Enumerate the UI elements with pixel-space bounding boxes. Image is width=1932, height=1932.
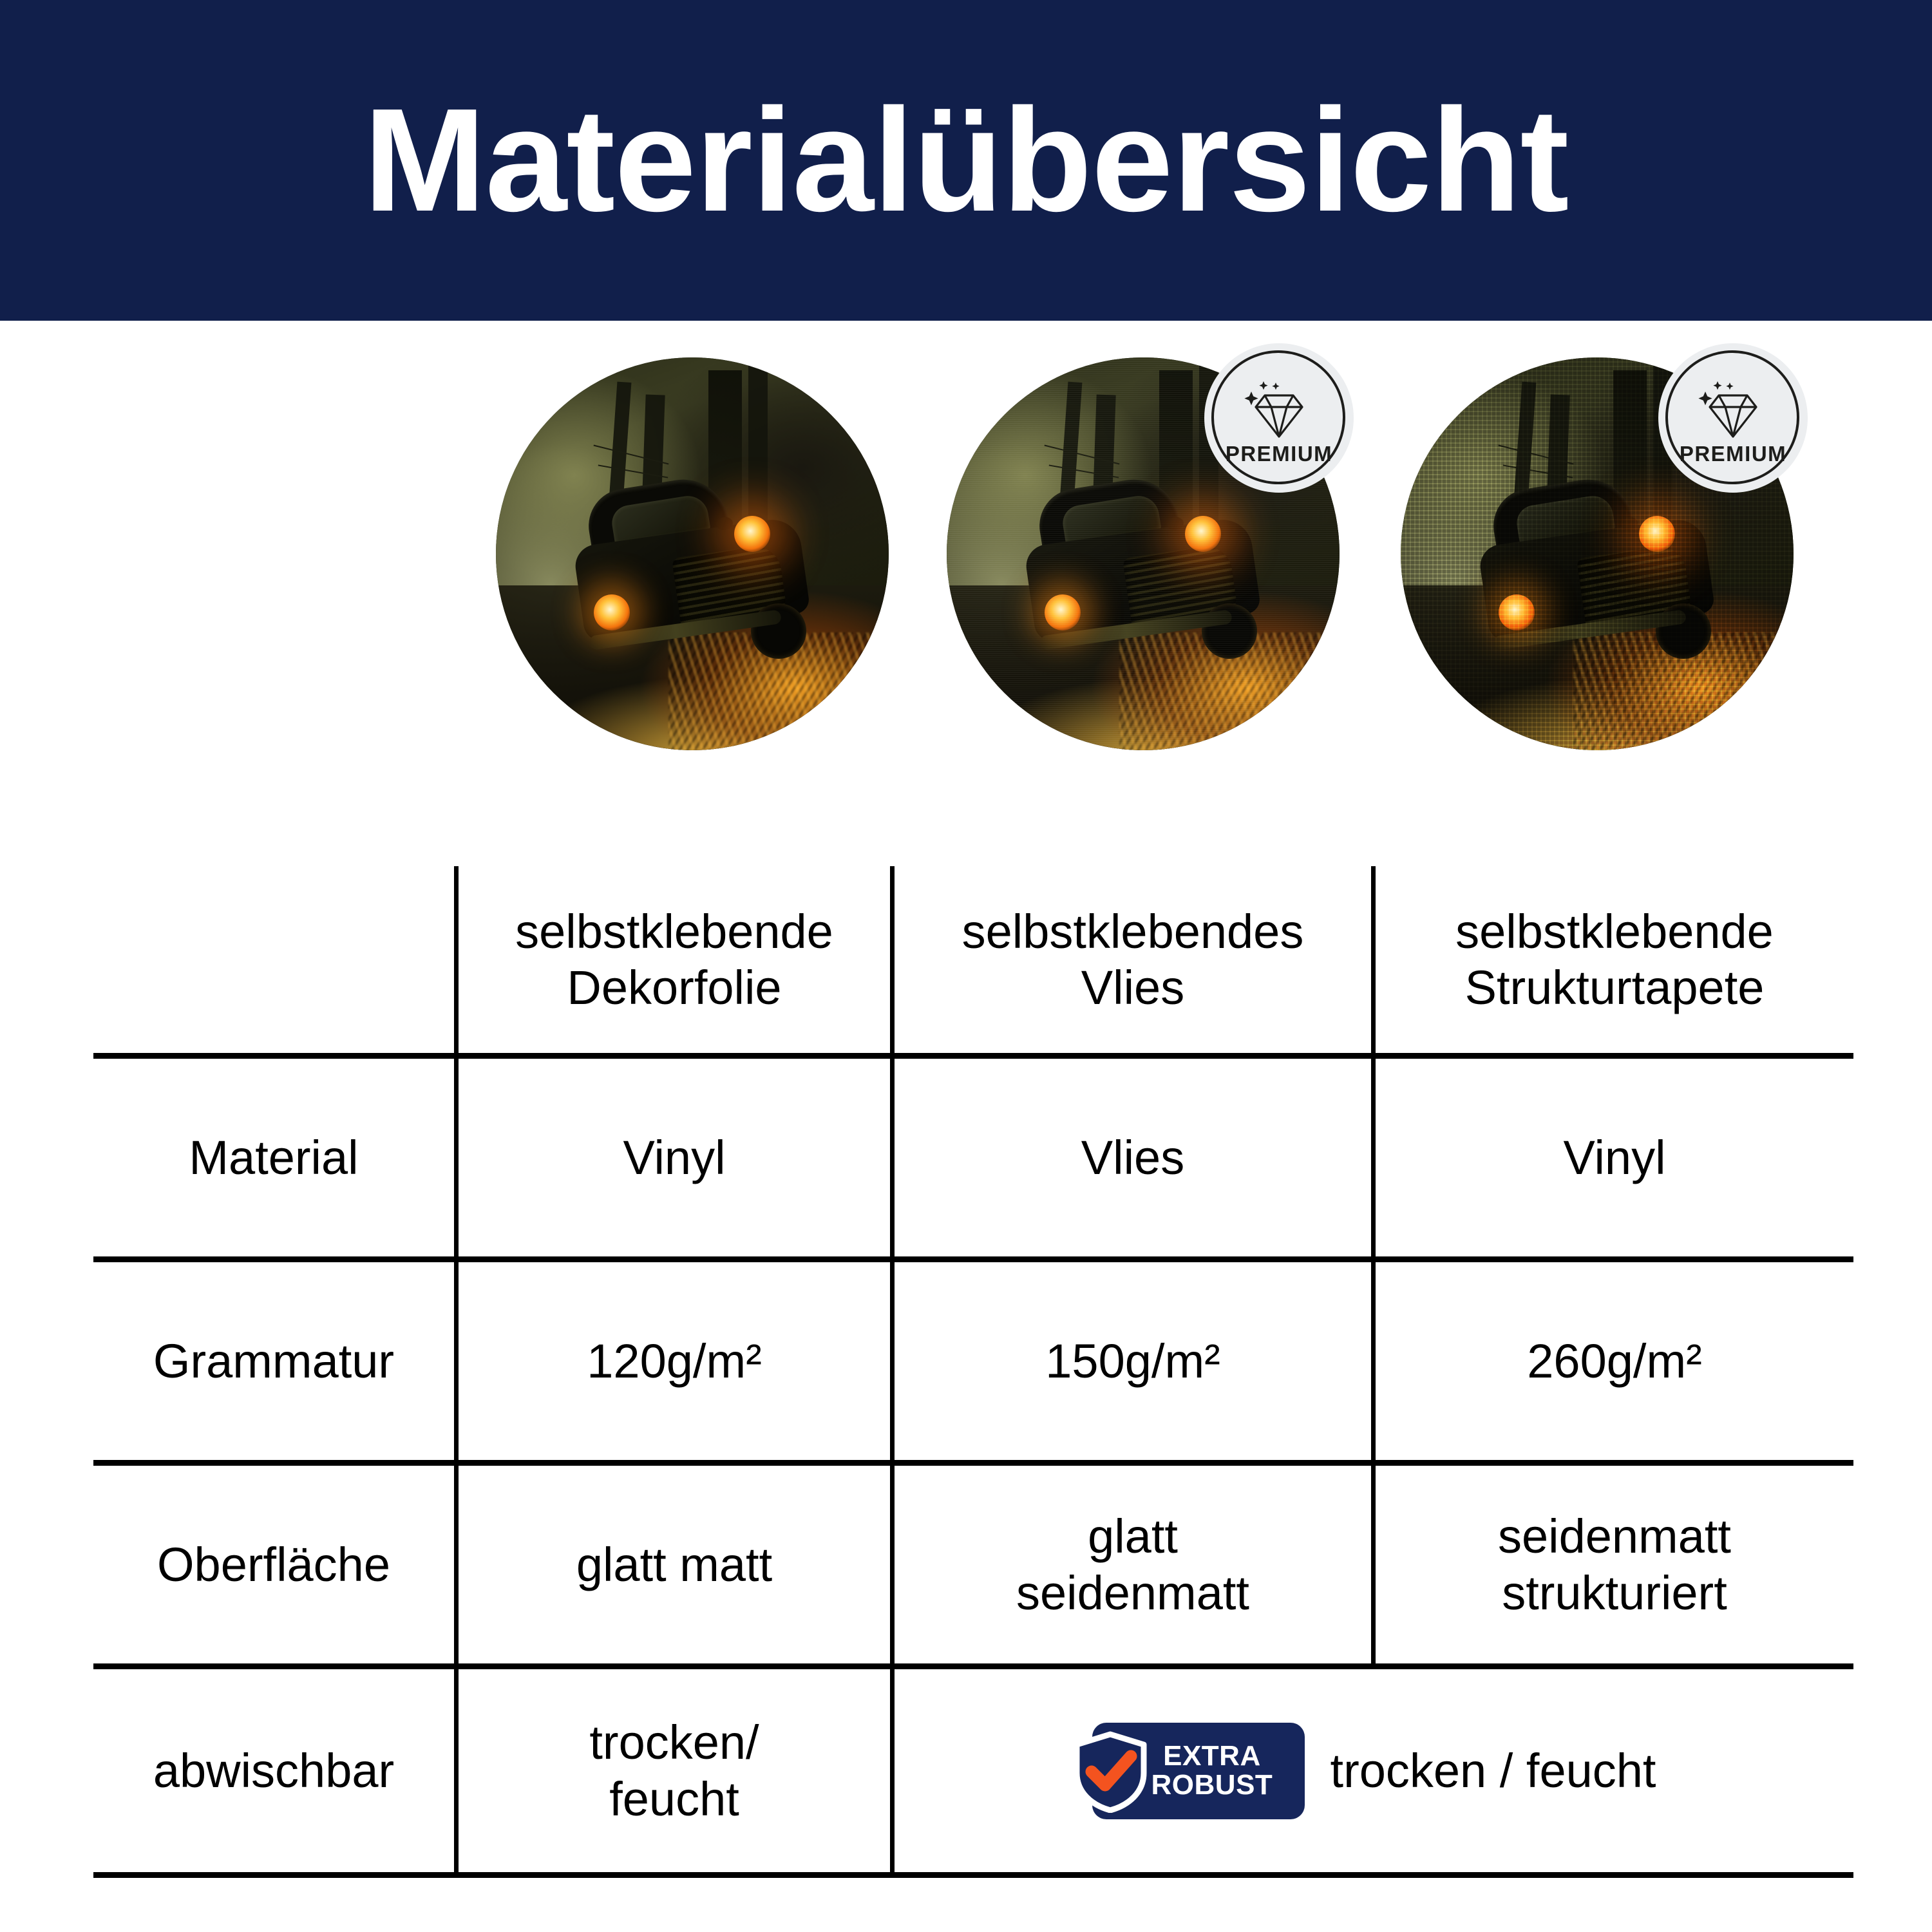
headlight-glow-icon [1045, 594, 1081, 630]
cell-abwischbar-merged: EXTRA ROBUST trocken / feucht [893, 1667, 1854, 1875]
extra-robust-label: EXTRA ROBUST [1151, 1742, 1273, 1800]
row-label-oberflaeche: Oberfläche [93, 1463, 457, 1667]
row-label-abwischbar: abwischbar [93, 1667, 457, 1875]
vintage-truck-icon [578, 484, 810, 670]
cell-abwischbar-dekorfolie: trocken/ feucht [457, 1667, 893, 1875]
diamond-icon [1240, 379, 1318, 440]
table-row-grammatur: Grammatur 120g/m² 150g/m² 260g/m² [93, 1260, 1853, 1463]
cell-grammatur-dekorfolie: 120g/m² [457, 1260, 893, 1463]
header-line-2: Dekorfolie [567, 961, 781, 1014]
headlight-glow-icon [1639, 516, 1675, 552]
preview-circle-vlies: PREMIUM [947, 357, 1340, 750]
premium-badge-label: PREMIUM [1680, 442, 1786, 466]
table-row-abwischbar: abwischbar trocken/ feucht [93, 1667, 1853, 1875]
preview-circle-row: PREMIUM [0, 357, 1932, 757]
cell-material-dekorfolie: Vinyl [457, 1056, 893, 1260]
header-banner: Materialübersicht [0, 0, 1932, 321]
cell-line-1: seidenmatt [1498, 1510, 1731, 1563]
material-spec-table: selbstklebende Dekorfolie selbstklebende… [93, 866, 1853, 1878]
headlight-glow-icon [734, 516, 770, 552]
header-cell-vlies: selbstklebendes Vlies [893, 866, 1374, 1056]
vintage-truck-icon [1029, 484, 1261, 670]
cell-abwischbar-merged-text: trocken / feucht [1331, 1743, 1656, 1799]
page-title: Materialübersicht [364, 87, 1569, 234]
cell-line-1: trocken/ [589, 1716, 759, 1769]
preview-circle-strukturtapete: PREMIUM [1401, 357, 1794, 750]
robust-line-1: EXTRA [1151, 1742, 1273, 1771]
headlight-glow-icon [594, 594, 630, 630]
cell-material-vlies: Vlies [893, 1056, 1374, 1260]
robust-line-2: ROBUST [1151, 1771, 1273, 1800]
cell-oberflaeche-strukturtapete: seidenmatt strukturiert [1374, 1463, 1854, 1667]
premium-badge-strukturtapete: PREMIUM [1658, 343, 1808, 493]
cell-line-2: feucht [609, 1772, 739, 1826]
premium-badge-vlies: PREMIUM [1204, 343, 1354, 493]
cell-material-strukturtapete: Vinyl [1374, 1056, 1854, 1260]
diamond-icon [1694, 379, 1772, 440]
row-label-material: Material [93, 1056, 457, 1260]
headlight-glow-icon [1185, 516, 1221, 552]
table-row-material: Material Vinyl Vlies Vinyl [93, 1056, 1853, 1260]
header-line-1: selbstklebendes [962, 905, 1304, 958]
table-row-oberflaeche: Oberfläche glatt matt glatt seidenmatt s… [93, 1463, 1853, 1667]
header-line-1: selbstklebende [515, 905, 833, 958]
header-line-1: selbstklebende [1455, 905, 1774, 958]
cell-oberflaeche-vlies: glatt seidenmatt [893, 1463, 1374, 1667]
product-photo-dekorfolie [496, 357, 889, 750]
cell-grammatur-strukturtapete: 260g/m² [1374, 1260, 1854, 1463]
table-header-row: selbstklebende Dekorfolie selbstklebende… [93, 866, 1853, 1056]
cell-line-1: glatt [1088, 1510, 1178, 1563]
cell-line-2: seidenmatt [1016, 1566, 1249, 1620]
header-line-2: Vlies [1081, 961, 1184, 1014]
cell-oberflaeche-dekorfolie: glatt matt [457, 1463, 893, 1667]
premium-badge-label: PREMIUM [1226, 442, 1332, 466]
headlight-glow-icon [1499, 594, 1535, 630]
header-cell-strukturtapete: selbstklebende Strukturtapete [1374, 866, 1854, 1056]
vintage-truck-icon [1483, 484, 1715, 670]
header-cell-dekorfolie: selbstklebende Dekorfolie [457, 866, 893, 1056]
preview-circle-dekorfolie [496, 357, 889, 750]
shield-check-icon [1072, 1730, 1149, 1813]
cell-line-2: strukturiert [1502, 1566, 1727, 1620]
extra-robust-badge: EXTRA ROBUST [1092, 1723, 1305, 1819]
row-label-grammatur: Grammatur [93, 1260, 457, 1463]
header-cell-empty [93, 866, 457, 1056]
header-line-2: Strukturtapete [1465, 961, 1765, 1014]
cell-grammatur-vlies: 150g/m² [893, 1260, 1374, 1463]
material-overview-infographic: Materialübersicht [0, 0, 1932, 1932]
